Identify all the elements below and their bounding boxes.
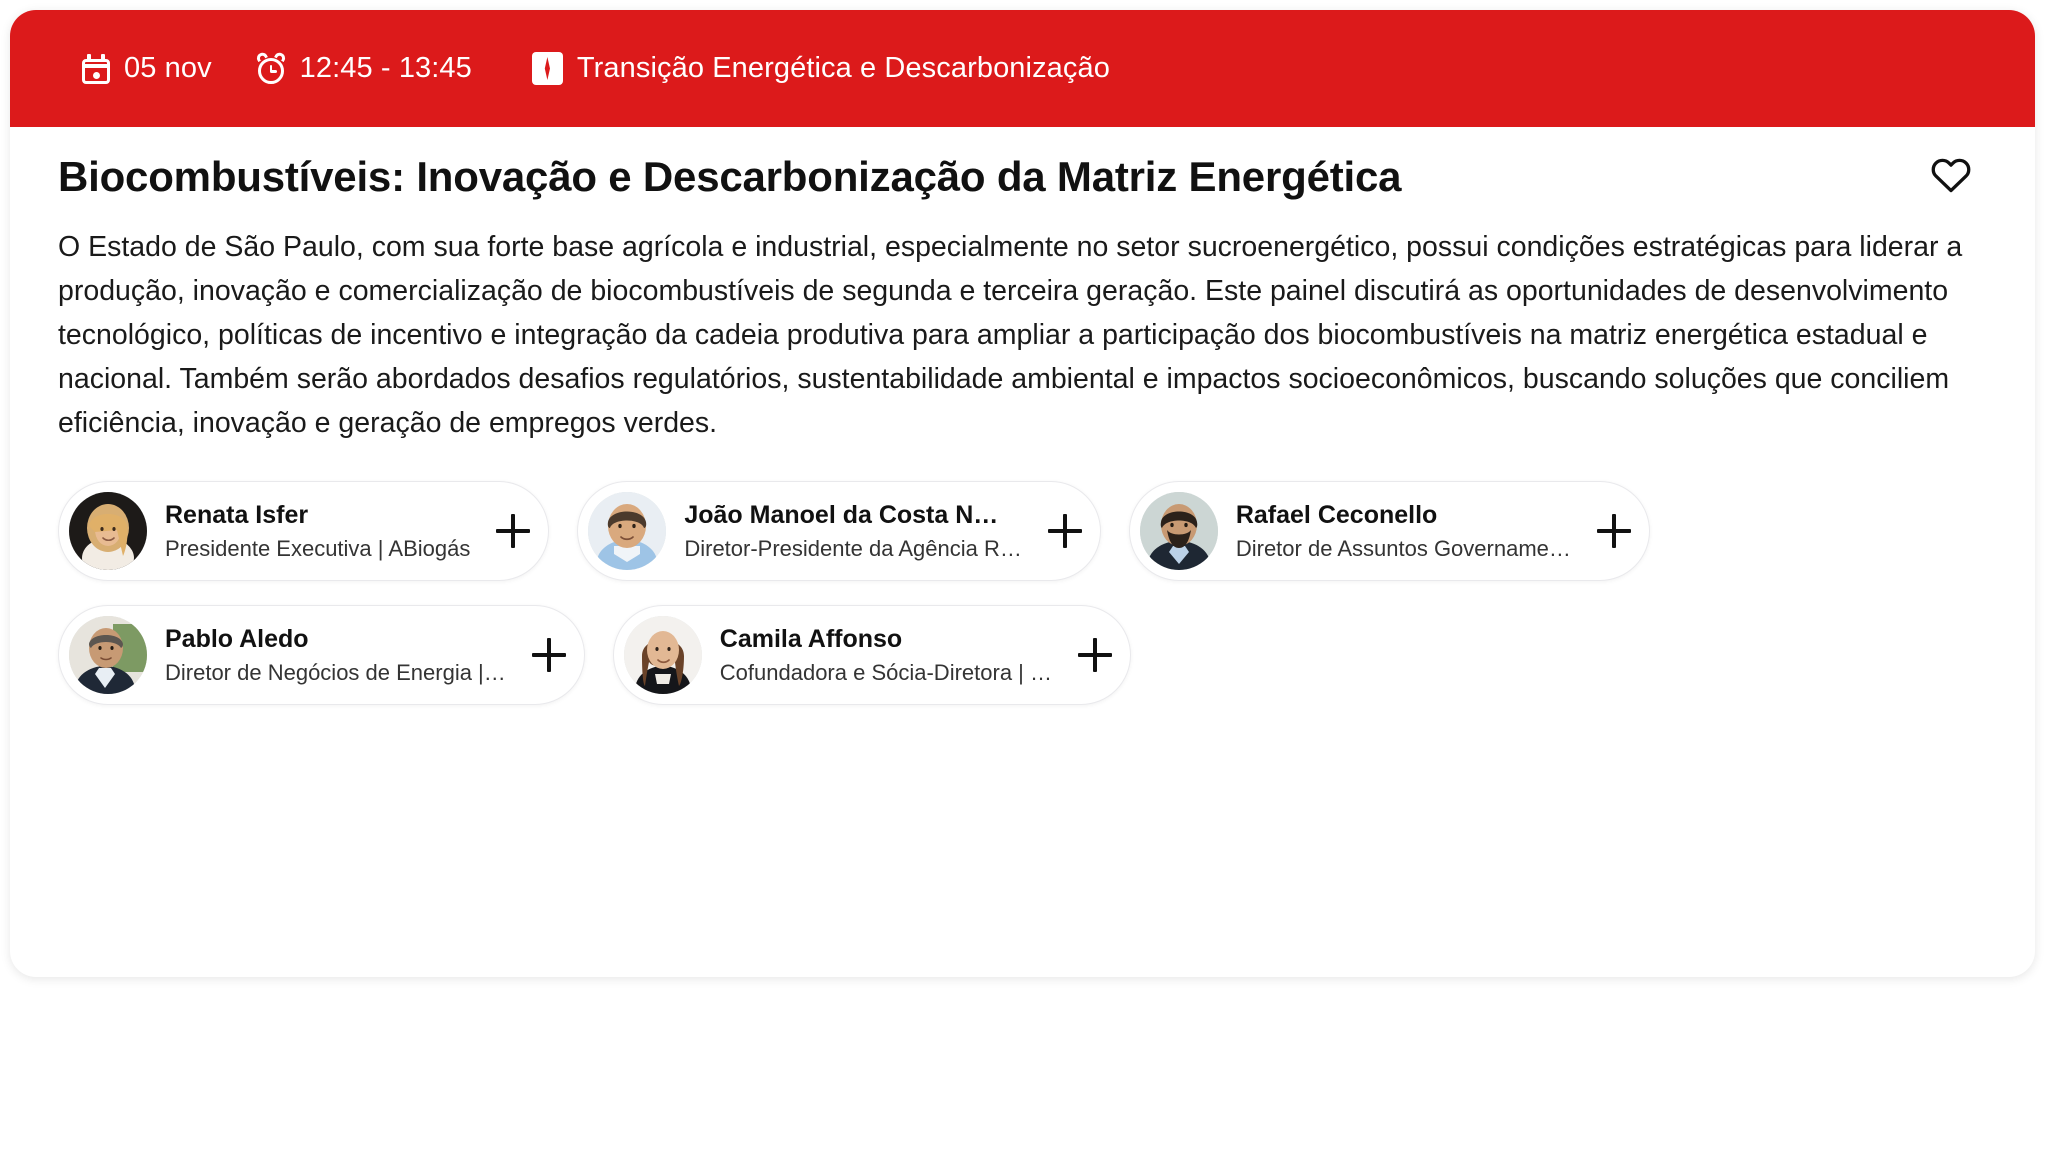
- favorite-button[interactable]: [1923, 147, 1979, 203]
- session-description: O Estado de São Paulo, com sua forte bas…: [58, 225, 1987, 445]
- speaker-row: Pablo Aledo Diretor de Negócios de Energ…: [58, 605, 1987, 705]
- heart-outline-icon: [1929, 153, 1973, 197]
- plus-icon[interactable]: [1044, 510, 1086, 552]
- speaker-row: Renata Isfer Presidente Executiva | ABio…: [58, 481, 1987, 581]
- session-time-group: 12:45 - 13:45: [256, 52, 472, 85]
- speaker-name: Camila Affonso: [720, 624, 1052, 655]
- avatar: [69, 616, 147, 694]
- speaker-role: Diretor de Negócios de Energia |…: [165, 659, 506, 687]
- speaker-name: Renata Isfer: [165, 500, 470, 531]
- session-header-bar: 05 nov 12:45 - 13:45 Transição Energétic…: [10, 10, 2035, 127]
- avatar: [588, 492, 666, 570]
- speakers-list: Renata Isfer Presidente Executiva | ABio…: [58, 481, 1987, 705]
- speaker-info: Renata Isfer Presidente Executiva | ABio…: [165, 500, 470, 562]
- sparkle-badge-icon: [532, 52, 563, 85]
- plus-icon[interactable]: [1593, 510, 1635, 552]
- speaker-role: Presidente Executiva | ABiogás: [165, 535, 470, 563]
- session-card: 05 nov 12:45 - 13:45 Transição Energétic…: [10, 10, 2035, 977]
- session-topic-group: Transição Energética e Descarbonização: [532, 52, 1110, 85]
- plus-icon[interactable]: [528, 634, 570, 676]
- speaker-card[interactable]: Camila Affonso Cofundadora e Sócia-Diret…: [613, 605, 1131, 705]
- avatar: [1140, 492, 1218, 570]
- avatar: [69, 492, 147, 570]
- speaker-role: Cofundadora e Sócia-Diretora | …: [720, 659, 1052, 687]
- speaker-info: Pablo Aledo Diretor de Negócios de Energ…: [165, 624, 506, 686]
- page-title: Biocombustíveis: Inovação e Descarboniza…: [58, 153, 1401, 201]
- speaker-card[interactable]: Rafael Ceconello Diretor de Assuntos Gov…: [1129, 481, 1650, 581]
- speaker-info: Camila Affonso Cofundadora e Sócia-Diret…: [720, 624, 1052, 686]
- speaker-info: João Manoel da Costa N… Diretor-Presiden…: [684, 500, 1022, 562]
- speaker-role: Diretor de Assuntos Govername…: [1236, 535, 1571, 563]
- title-row: Biocombustíveis: Inovação e Descarboniza…: [58, 127, 1987, 203]
- speaker-name: Rafael Ceconello: [1236, 500, 1571, 531]
- session-date-group: 05 nov: [82, 52, 212, 85]
- speaker-name: João Manoel da Costa N…: [684, 500, 1022, 531]
- session-time: 12:45 - 13:45: [300, 52, 472, 85]
- plus-icon[interactable]: [492, 510, 534, 552]
- avatar: [624, 616, 702, 694]
- speaker-card[interactable]: Renata Isfer Presidente Executiva | ABio…: [58, 481, 549, 581]
- speaker-role: Diretor-Presidente da Agência R…: [684, 535, 1022, 563]
- speaker-card[interactable]: João Manoel da Costa N… Diretor-Presiden…: [577, 481, 1101, 581]
- speaker-card[interactable]: Pablo Aledo Diretor de Negócios de Energ…: [58, 605, 585, 705]
- speaker-name: Pablo Aledo: [165, 624, 506, 655]
- alarm-clock-icon: [256, 53, 286, 84]
- calendar-icon: [82, 54, 110, 84]
- session-date: 05 nov: [124, 52, 212, 85]
- session-body: Biocombustíveis: Inovação e Descarboniza…: [10, 127, 2035, 705]
- speaker-info: Rafael Ceconello Diretor de Assuntos Gov…: [1236, 500, 1571, 562]
- session-topic: Transição Energética e Descarbonização: [577, 52, 1110, 85]
- plus-icon[interactable]: [1074, 634, 1116, 676]
